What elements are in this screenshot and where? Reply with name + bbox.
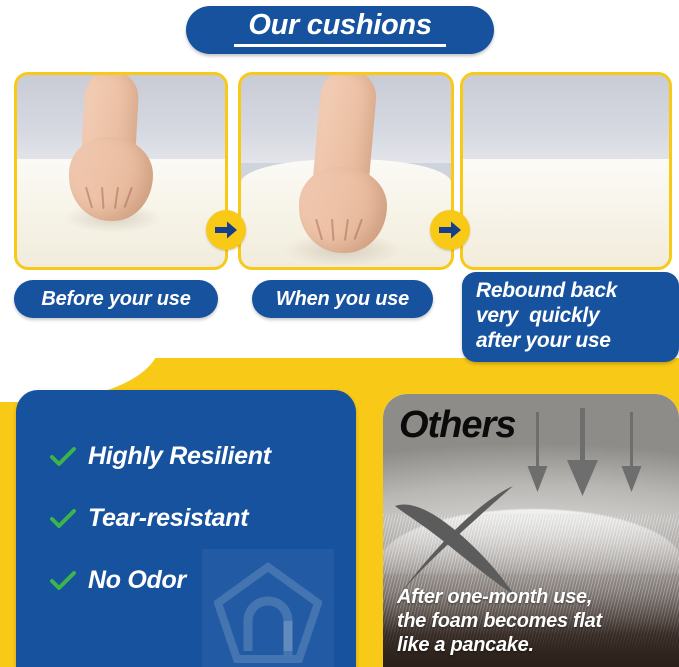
- check-icon: [50, 571, 76, 591]
- feature-item: Highly Resilient: [50, 442, 271, 471]
- caption-label: When you use: [276, 288, 409, 311]
- feature-label: Tear-resistant: [88, 504, 248, 533]
- check-icon: [50, 447, 76, 467]
- arrow-right-icon: [206, 210, 246, 250]
- others-caption-text: After one-month use, the foam becomes fl…: [397, 585, 673, 657]
- caption-when-you-use: When you use: [252, 280, 433, 318]
- others-title: Others: [399, 404, 515, 447]
- caption-label: Before your use: [41, 288, 190, 311]
- feature-item: No Odor: [50, 566, 271, 595]
- step-photo-2: [238, 72, 454, 270]
- others-caption: After one-month use, the foam becomes fl…: [397, 585, 673, 657]
- title-underline: [234, 44, 446, 47]
- page-title-banner: Our cushions: [186, 6, 494, 54]
- comparison-panel-row: [0, 72, 679, 264]
- step-photo-3: [460, 72, 672, 270]
- feature-item: Tear-resistant: [50, 504, 271, 533]
- caption-label: Rebound back very quickly after your use: [476, 278, 679, 353]
- check-icon: [50, 509, 76, 529]
- feature-label: Highly Resilient: [88, 442, 271, 471]
- others-comparison-card: Others After o: [383, 394, 679, 667]
- scene-when-using: [241, 75, 451, 267]
- product-infographic: Our cushions: [0, 0, 679, 667]
- arrow-right-icon: [430, 210, 470, 250]
- caption-rebound-back: Rebound back very quickly after your use: [462, 272, 679, 362]
- scene-before-use: [17, 75, 225, 267]
- knuckle-creases: [79, 187, 141, 213]
- feature-label: No Odor: [88, 566, 186, 595]
- scene-background: [463, 75, 669, 163]
- scene-rebounded: [463, 75, 669, 267]
- knuckle-creases: [309, 219, 371, 245]
- our-cushion-feature-card: Highly Resilient Tear-resistant No Odor: [16, 390, 356, 667]
- caption-before-your-use: Before your use: [14, 280, 218, 318]
- downward-pressure-arrows-icon: [519, 408, 649, 510]
- foam-surface-flat: [463, 159, 669, 267]
- feature-list: Highly Resilient Tear-resistant No Odor: [50, 442, 271, 628]
- step-photo-1: [14, 72, 228, 270]
- page-title: Our cushions: [248, 11, 431, 40]
